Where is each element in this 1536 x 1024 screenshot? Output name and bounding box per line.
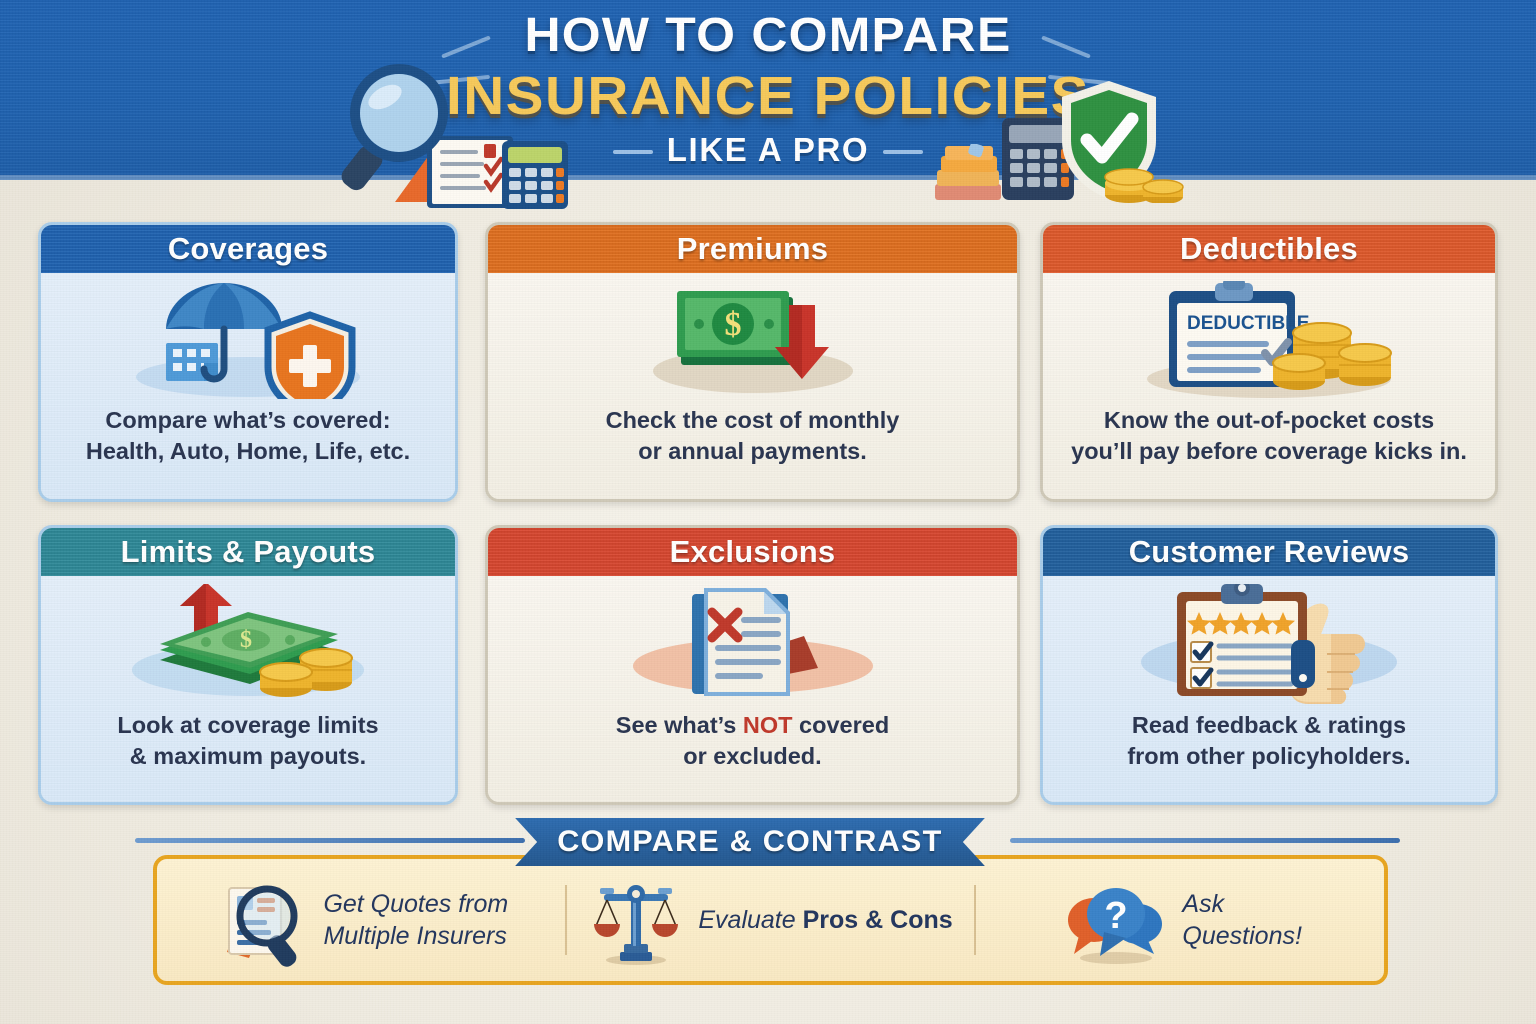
label-line-2: Multiple Insurers [323, 920, 508, 952]
header-title-group: HOW TO COMPARE INSURANCE POLICIES LIKE A… [0, 8, 1536, 169]
speech-bubbles-question-icon: ? [1058, 874, 1168, 966]
card-header-customer-reviews: Customer Reviews [1043, 528, 1495, 576]
card-title: Premiums [677, 231, 829, 267]
desc-highlight-not: NOT [743, 712, 793, 738]
cash-up-arrow-coins-icon: $ [114, 584, 382, 704]
footer-item-label: Get Quotes from Multiple Insurers [323, 888, 508, 952]
card-header-coverages: Coverages [41, 225, 455, 273]
card-description-limits-payouts: Look at coverage limits & maximum payout… [103, 710, 392, 773]
desc-line-2: from other policyholders. [1127, 741, 1410, 772]
label-line-2: Questions! [1182, 920, 1302, 952]
infographic-canvas: HOW TO COMPARE INSURANCE POLICIES LIKE A… [0, 0, 1536, 1024]
card-title: Customer Reviews [1129, 534, 1410, 570]
card-body-coverages: Compare what’s covered: Health, Auto, Ho… [41, 273, 455, 499]
decor-dash-right [883, 150, 923, 154]
header-bottom-edge [0, 175, 1536, 180]
desc-line-1: Look at coverage limits [117, 710, 378, 741]
desc-line-2: Health, Auto, Home, Life, etc. [86, 436, 410, 467]
decor-dash-left [613, 150, 653, 154]
umbrella-shield-icon [118, 281, 378, 399]
divider-rule-left [135, 838, 525, 843]
desc-line-1: Read feedback & ratings [1127, 710, 1410, 741]
money-stack-icon [933, 144, 1005, 202]
card-deductibles[interactable]: Deductibles DEDUCTIBLE [1040, 222, 1498, 502]
document-x-icon [608, 584, 898, 704]
compare-contrast-ribbon: Compare & Contrast [498, 818, 1002, 866]
ribbon-label: Compare & Contrast [557, 825, 942, 859]
magnifying-glass-icon [341, 63, 453, 191]
svg-text:$: $ [724, 306, 741, 343]
footer-item-evaluate-pros-cons[interactable]: Evaluate Pros & Cons [567, 872, 975, 968]
main-blue-bubble: ? [1087, 888, 1145, 956]
desc-pre: See what’s [616, 712, 743, 738]
card-body-premiums: $ Check the cost of monthly or annual pa… [488, 273, 1017, 499]
footer-item-label: Evaluate Pros & Cons [698, 904, 952, 936]
ribbon-body: Compare & Contrast [515, 818, 985, 866]
desc-line-1: Know the out-of-pocket costs [1071, 405, 1467, 436]
desc-line-2: or annual payments. [606, 436, 900, 467]
label-line-1: Ask [1182, 888, 1302, 920]
desc-line-2: or excluded. [616, 741, 889, 772]
label-italic-part: Evaluate [698, 906, 802, 934]
desc-post: covered [793, 712, 890, 738]
svg-text:$: $ [240, 627, 252, 653]
magnifier-document-icon [213, 872, 309, 968]
card-header-limits-payouts: Limits & Payouts [41, 528, 455, 576]
deductible-clipboard-coins-icon: DEDUCTIBLE [1119, 281, 1419, 399]
title-line-3-text: LIKE A PRO [667, 131, 869, 168]
desc-line-1: See what’s NOT covered [616, 710, 889, 741]
footer-item-ask-questions[interactable]: ? Ask Questions! [976, 874, 1384, 966]
card-title: Deductibles [1180, 231, 1358, 267]
card-body-limits-payouts: $ [41, 576, 455, 802]
card-premiums[interactable]: Premiums $ [485, 222, 1020, 502]
footer-item-get-quotes[interactable]: Get Quotes from Multiple Insurers [157, 872, 565, 968]
card-limits-payouts[interactable]: Limits & Payouts $ [38, 525, 458, 805]
svg-text:?: ? [1105, 895, 1128, 937]
label-bold-part: Pros & Cons [803, 906, 953, 934]
card-title: Exclusions [670, 534, 836, 570]
card-description-deductibles: Know the out-of-pocket costs you’ll pay … [1057, 405, 1481, 468]
desc-line-2: you’ll pay before coverage kicks in. [1071, 436, 1467, 467]
title-line-3: LIKE A PRO [0, 131, 1536, 169]
card-customer-reviews[interactable]: Customer Reviews [1040, 525, 1498, 805]
banknote-down-arrow-icon: $ [623, 281, 883, 399]
footer-item-label: Ask Questions! [1182, 888, 1302, 952]
desc-line-1: Check the cost of monthly [606, 405, 900, 436]
card-header-exclusions: Exclusions [488, 528, 1017, 576]
card-body-exclusions: See what’s NOT covered or excluded. [488, 576, 1017, 802]
card-title: Coverages [168, 231, 328, 267]
review-clipboard-thumbsup-icon [1119, 584, 1419, 704]
footer-actions-box: Get Quotes from Multiple Insurers [153, 855, 1388, 985]
card-header-deductibles: Deductibles [1043, 225, 1495, 273]
desc-line-2: & maximum payouts. [117, 741, 378, 772]
card-coverages[interactable]: Coverages [38, 222, 458, 502]
card-description-exclusions: See what’s NOT covered or excluded. [602, 710, 903, 773]
card-description-coverages: Compare what’s covered: Health, Auto, Ho… [72, 405, 424, 468]
card-exclusions[interactable]: Exclusions [485, 525, 1020, 805]
card-header-premiums: Premiums [488, 225, 1017, 273]
card-body-customer-reviews: Read feedback & ratings from other polic… [1043, 576, 1495, 802]
calculator-icon [500, 139, 570, 211]
label-line-1: Get Quotes from [323, 888, 508, 920]
desc-line-1: Compare what’s covered: [86, 405, 410, 436]
card-title: Limits & Payouts [121, 534, 376, 570]
title-line-1: HOW TO COMPARE [0, 8, 1536, 63]
scales-balance-icon [588, 872, 684, 968]
title-line-2: INSURANCE POLICIES [0, 65, 1536, 127]
gold-coins-icon [1103, 155, 1185, 203]
card-body-deductibles: DEDUCTIBLE [1043, 273, 1495, 499]
card-description-premiums: Check the cost of monthly or annual paym… [592, 405, 914, 468]
deductible-label: DEDUCTIBLE [1187, 313, 1309, 334]
card-description-customer-reviews: Read feedback & ratings from other polic… [1113, 710, 1424, 773]
divider-rule-right [1010, 838, 1400, 843]
